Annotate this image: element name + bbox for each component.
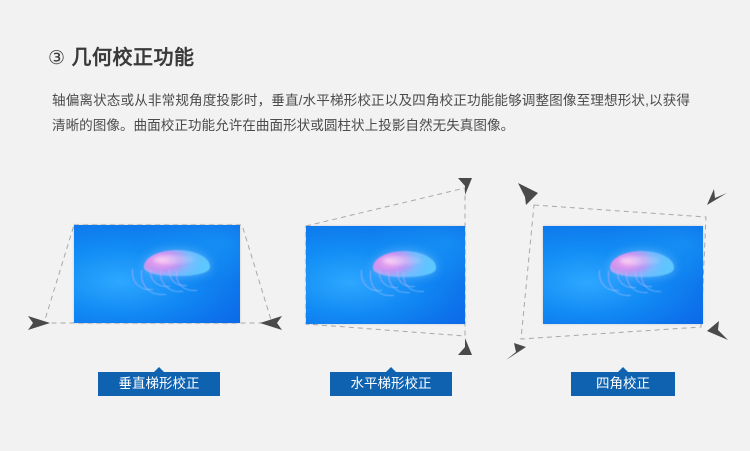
jellyfish-icon <box>144 250 210 295</box>
jellyfish-tentacles <box>124 269 202 297</box>
arrow-marker-top-left <box>518 183 538 205</box>
badge-vertical-keystone: 垂直梯形校正 <box>98 372 220 396</box>
page-root: ③几何校正功能 轴偏离状态或从非常规角度投影时，垂直/水平梯形校正以及四角校正功… <box>0 0 750 451</box>
arrow-marker-bottom-right <box>458 338 472 355</box>
arrow-marker-top-right <box>707 189 727 205</box>
jellyfish-icon <box>610 251 674 296</box>
description-paragraph: 轴偏离状态或从非常规角度投影时，垂直/水平梯形校正以及四角校正功能能够调整图像至… <box>52 88 690 138</box>
badge-four-corner: 四角校正 <box>571 372 675 396</box>
section-number: ③ <box>48 48 66 69</box>
jellyfish-tentacles <box>591 270 667 298</box>
figure-vertical-keystone <box>20 175 280 405</box>
jellyfish-tentacles <box>354 270 429 298</box>
jellyfish-icon <box>373 251 437 296</box>
badge-horizontal-keystone: 水平梯形校正 <box>330 372 452 396</box>
arrow-marker-bottom-right <box>707 321 728 340</box>
figure-row <box>0 175 750 405</box>
section-title-text: 几何校正功能 <box>72 47 195 69</box>
arrow-marker-bottom-left <box>28 316 50 330</box>
jellyfish-photo-3 <box>543 226 703 324</box>
jellyfish-photo-2 <box>306 226 465 324</box>
jellyfish-photo-1 <box>74 225 240 323</box>
arrow-marker-bottom-left <box>506 343 526 360</box>
arrow-marker-top-right <box>458 178 472 195</box>
page-title: ③几何校正功能 <box>48 41 195 70</box>
